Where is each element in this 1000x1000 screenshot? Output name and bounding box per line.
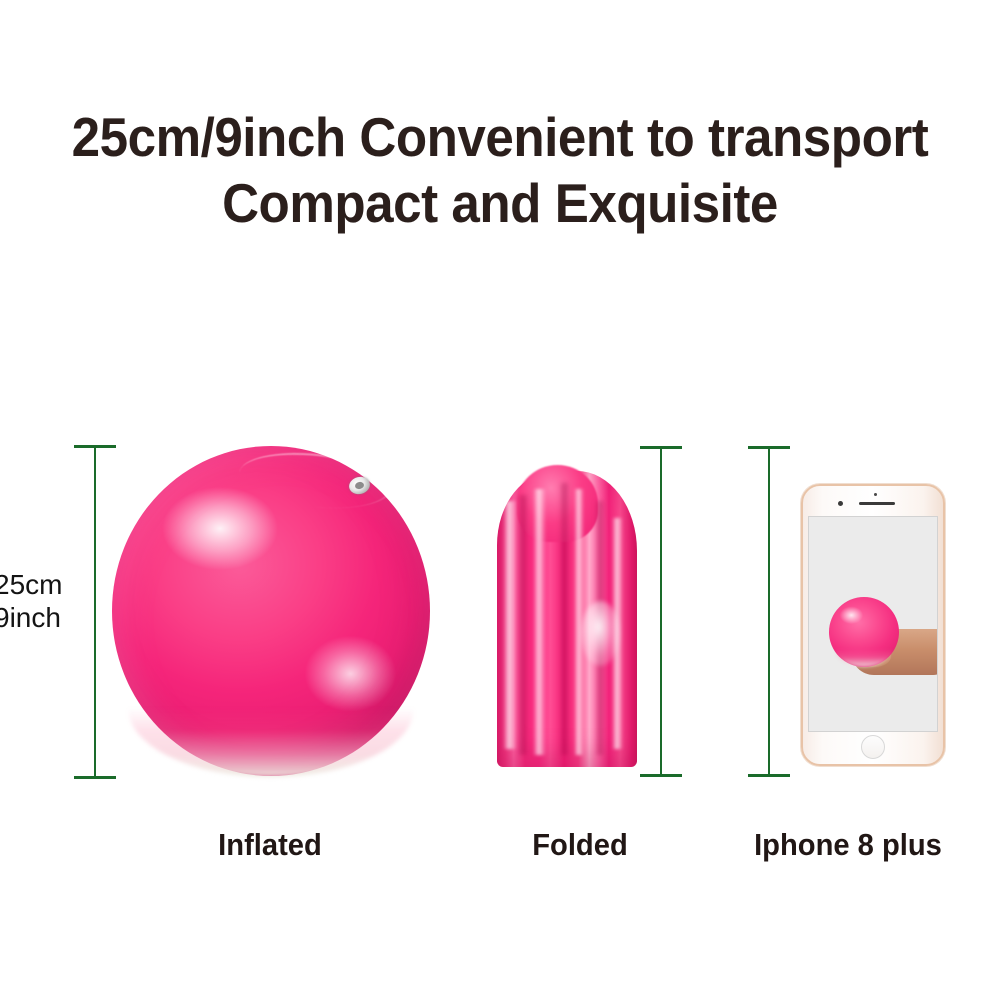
inflated-ball-image (112, 446, 430, 776)
rule-cap-bottom (748, 774, 790, 777)
caption-inflated: Inflated (120, 828, 421, 862)
fold-shadow (517, 495, 530, 755)
rule-cap-bottom (640, 774, 682, 777)
iphone-image (801, 484, 945, 766)
front-camera-icon (838, 501, 843, 506)
fold-crease (503, 501, 517, 750)
fold-crease (533, 489, 546, 755)
headline-block: 25cm/9inch Convenient to transport Compa… (0, 104, 1000, 236)
screen-ball (829, 597, 899, 667)
earpiece-speaker-icon (859, 502, 895, 505)
ball-bottom-rim (128, 708, 414, 777)
fold-shadow (559, 483, 570, 755)
inflated-height-rule (94, 446, 96, 778)
size-label-imperial: 9inch (0, 601, 84, 634)
headline-line-1: 25cm/9inch Convenient to transport (35, 104, 965, 170)
product-infographic: 25cm/9inch Convenient to transport Compa… (0, 0, 1000, 1000)
folded-height-rule (660, 447, 662, 776)
rule-cap-bottom (74, 776, 116, 779)
home-button-icon (861, 735, 885, 759)
caption-folded: Folded (486, 828, 674, 862)
headline-line-2: Compact and Exquisite (35, 170, 965, 236)
proximity-sensor-icon (874, 493, 877, 496)
phone-screen (808, 516, 938, 732)
rule-cap-top (748, 446, 790, 449)
size-label: 25cm 9inch (0, 568, 84, 634)
size-label-metric: 25cm (0, 568, 84, 601)
rule-cap-top (74, 445, 116, 448)
folded-ball-image (497, 471, 637, 767)
phone-height-rule (768, 447, 770, 776)
rule-cap-top (640, 446, 682, 449)
caption-phone: Iphone 8 plus (726, 828, 970, 862)
